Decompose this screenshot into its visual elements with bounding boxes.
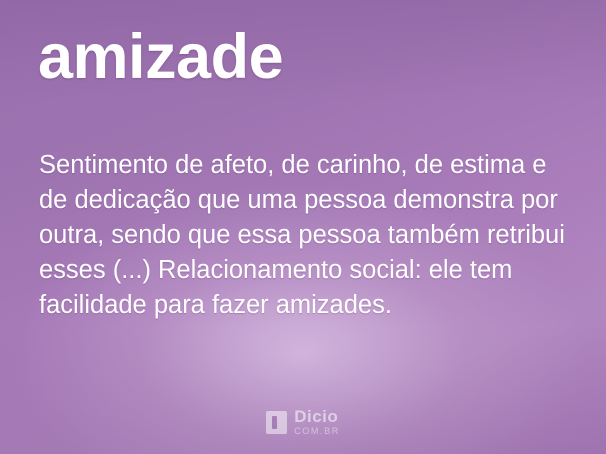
definition-text: Sentimento de afeto, de carinho, de esti… xyxy=(39,148,573,323)
dictionary-definition-card: amizade Sentimento de afeto, de carinho,… xyxy=(0,0,606,454)
definition-paragraph: Sentimento de afeto, de carinho, de esti… xyxy=(39,148,573,323)
brand-logo-text: Dicio COM.BR xyxy=(294,408,340,436)
page-title: amizade xyxy=(38,26,283,89)
brand-name: Dicio xyxy=(294,408,340,425)
brand-logo: Dicio COM.BR xyxy=(0,408,606,436)
dicio-square-icon xyxy=(266,411,287,434)
brand-domain: COM.BR xyxy=(294,427,340,436)
